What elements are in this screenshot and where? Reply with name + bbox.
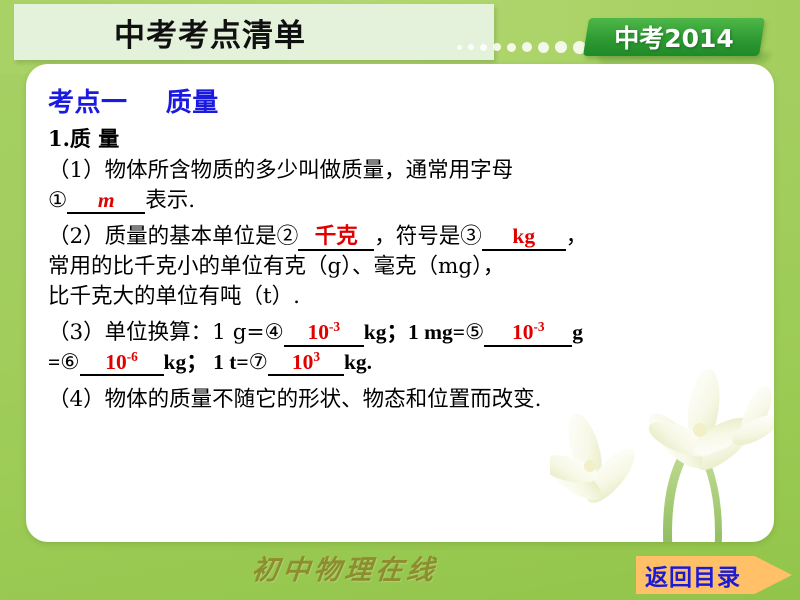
answer-value-4-base: 10 (307, 320, 329, 344)
return-to-contents-label: 返回目录 (636, 558, 741, 592)
blank-marker-1: ① (48, 188, 67, 213)
paragraph-2-mid: ，符号是 (374, 224, 460, 249)
paragraph-3-unit-d: kg. (344, 350, 372, 374)
watermark: 初中物理在线 (250, 548, 440, 587)
answer-blank-4[interactable]: 10-3 (284, 321, 364, 347)
paragraph-3-head: （3）单位换算：1 g= (48, 320, 264, 345)
paragraph-4: （4）物体的质量不随它的形状、物态和位置而改变. (48, 385, 758, 415)
blank-marker-7: ⑦ (249, 350, 268, 375)
paragraph-1-line1: （1）物体所含物质的多少叫做质量，通常用字母 (48, 158, 513, 183)
page-title: 中考考点清单 (114, 10, 306, 55)
paragraph-2-line2: 常用的比千克小的单位有克（g）、毫克（mg）， (48, 252, 758, 282)
blank-marker-5: ⑤ (465, 320, 484, 345)
answer-value-4-exponent: -3 (329, 319, 340, 334)
answer-blank-5[interactable]: 10-3 (484, 321, 572, 347)
answer-value-2: 千克 (315, 224, 358, 248)
paragraph-2: （2）质量的基本单位是②千克，符号是③kg， (48, 222, 758, 252)
blank-marker-2: ② (277, 224, 299, 249)
header-title-band: 中考考点清单 (14, 4, 494, 60)
answer-blank-7[interactable]: 103 (268, 351, 344, 377)
answer-blank-3[interactable]: kg (482, 225, 566, 251)
answer-value-5-base: 10 (512, 320, 534, 344)
paragraph-3-line2-head: = (48, 350, 60, 374)
paragraph-3-unit-c: kg； 1 t= (164, 350, 249, 374)
answer-value-6-exponent: -6 (127, 349, 138, 364)
paragraph-3: （3）单位换算：1 g=④10-3kg；1 mg=⑤10-3g (48, 318, 758, 348)
section-title: 考点一 质量 (48, 82, 758, 119)
badge-label: 中考2014 (614, 19, 734, 55)
answer-value-6-base: 10 (105, 350, 127, 374)
paragraph-1: （1）物体所含物质的多少叫做质量，通常用字母 (48, 156, 758, 186)
exam-year-badge: 中考2014 (583, 18, 765, 56)
answer-value-5-exponent: -3 (533, 319, 544, 334)
paragraph-3-unit-a: kg；1 mg= (364, 320, 465, 344)
paragraph-1-tail: 表示. (145, 188, 195, 213)
paragraph-3-unit-b: g (572, 320, 583, 344)
item-lead-label: 1.质 量 (48, 125, 758, 154)
answer-value-3: kg (512, 224, 535, 248)
paragraph-2-line3: 比千克大的单位有吨（t）. (48, 282, 758, 312)
card-content: 考点一 质量 1.质 量 （1）物体所含物质的多少叫做质量，通常用字母 ①m表示… (26, 64, 774, 414)
answer-value-7-exponent: 3 (313, 349, 320, 364)
paragraph-3-line2: =⑥10-6kg； 1 t=⑦103kg. (48, 348, 758, 378)
slide-root: 中考考点清单 中考2014 (0, 0, 800, 600)
paragraph-1-line2: ①m表示. (48, 186, 758, 216)
blank-marker-6: ⑥ (60, 350, 79, 375)
answer-value-1: m (98, 188, 115, 212)
blank-marker-4: ④ (264, 320, 283, 345)
answer-blank-2[interactable]: 千克 (298, 225, 374, 251)
content-card: 考点一 质量 1.质 量 （1）物体所含物质的多少叫做质量，通常用字母 ①m表示… (26, 64, 774, 542)
body-text-block: 1.质 量 （1）物体所含物质的多少叫做质量，通常用字母 ①m表示. （2）质量… (48, 125, 758, 414)
answer-blank-6[interactable]: 10-6 (80, 351, 164, 377)
blank-marker-3: ③ (460, 224, 482, 249)
answer-blank-1[interactable]: m (67, 189, 145, 215)
paragraph-2-head: （2）质量的基本单位是 (48, 224, 277, 249)
answer-value-7-base: 10 (292, 350, 314, 374)
paragraph-2-comma: ， (566, 224, 588, 249)
